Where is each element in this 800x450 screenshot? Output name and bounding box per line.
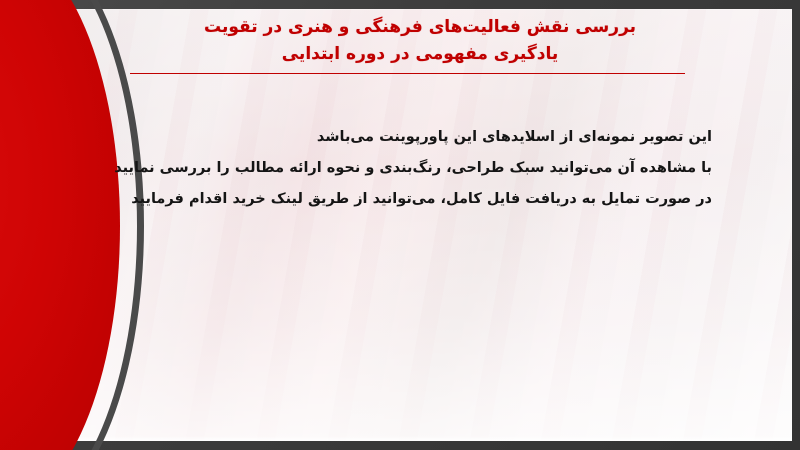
presentation-slide: بررسی نقش فعالیت‌های فرهنگی و هنری در تق…	[0, 0, 800, 450]
title-divider-rule	[130, 73, 685, 74]
body-line-1: این تصویر نمونه‌ای از اسلایدهای این پاور…	[112, 122, 712, 153]
title-line-2: یادگیری مفهومی در دوره ابتدایی	[120, 41, 720, 68]
body-line-3: در صورت تمایل به دریافت فایل کامل، می‌تو…	[112, 184, 712, 215]
slide-body-text: این تصویر نمونه‌ای از اسلایدهای این پاور…	[112, 122, 712, 215]
body-line-2: با مشاهده آن می‌توانید سبک طراحی، رنگ‌بن…	[112, 153, 712, 184]
title-line-1: بررسی نقش فعالیت‌های فرهنگی و هنری در تق…	[120, 14, 720, 41]
panel-bottom-highlight	[22, 436, 792, 441]
slide-title: بررسی نقش فعالیت‌های فرهنگی و هنری در تق…	[120, 14, 720, 68]
